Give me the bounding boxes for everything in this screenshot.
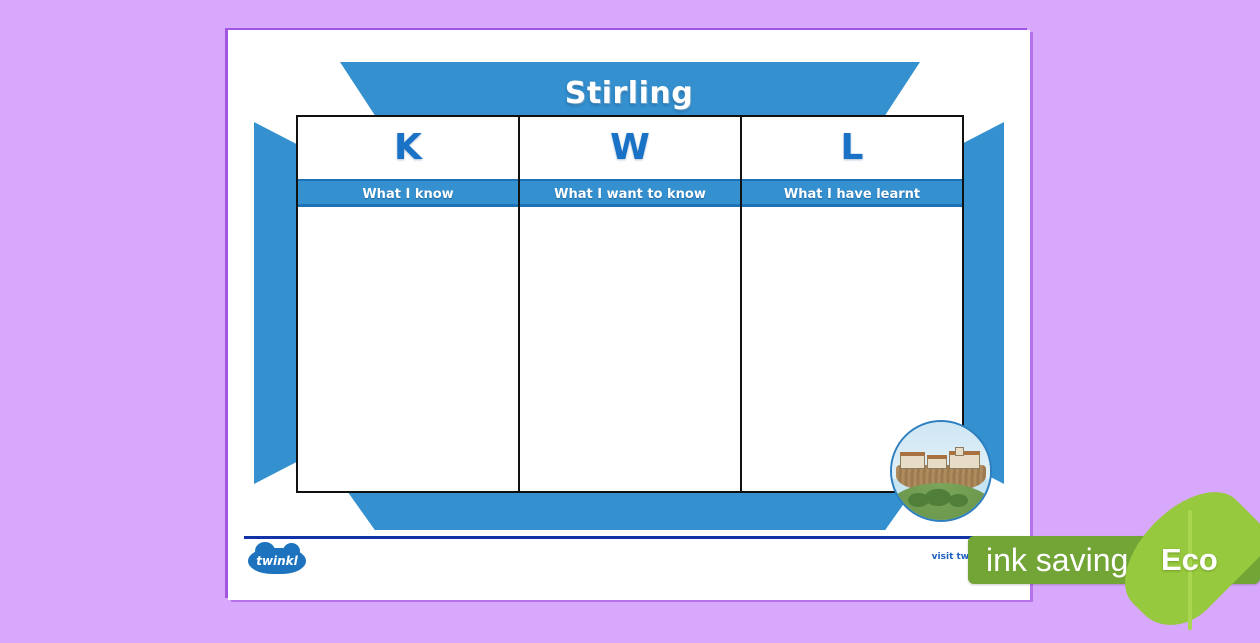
bush-2 (925, 489, 950, 507)
castle-roof-right (949, 451, 980, 455)
castle-building-center (927, 458, 947, 469)
page-title: Stirling (228, 76, 1030, 111)
kwl-letter-w: W (520, 117, 740, 179)
stirling-castle-image (890, 420, 992, 522)
kwl-column-k: K What I know (298, 117, 520, 491)
ink-saving-label: ink saving (986, 536, 1128, 584)
worksheet-page: Stirling K What I know W What I want to … (228, 30, 1030, 600)
castle-tower (955, 447, 964, 456)
castle-roof-center (927, 455, 947, 459)
castle-roof-left (900, 452, 925, 456)
kwl-subheader-w: What I want to know (520, 179, 740, 207)
kwl-writing-area-k[interactable] (298, 207, 518, 491)
kwl-column-w: W What I want to know (520, 117, 742, 491)
castle-building-left (900, 455, 925, 469)
kwl-letter-l: L (742, 117, 962, 179)
twinkl-logo-text: twinkl (248, 548, 306, 574)
kwl-table: K What I know W What I want to know L Wh… (296, 115, 964, 493)
twinkl-logo[interactable]: twinkl (248, 546, 306, 576)
ink-saving-eco-badge: ink saving Eco (968, 532, 1260, 588)
kwl-subheader-k: What I know (298, 179, 518, 207)
eco-label: Eco (1161, 536, 1218, 584)
kwl-writing-area-w[interactable] (520, 207, 740, 491)
castle-building-right (949, 454, 980, 469)
kwl-letter-k: K (298, 117, 518, 179)
footer-divider (244, 536, 1014, 539)
kwl-subheader-l: What I have learnt (742, 179, 962, 207)
